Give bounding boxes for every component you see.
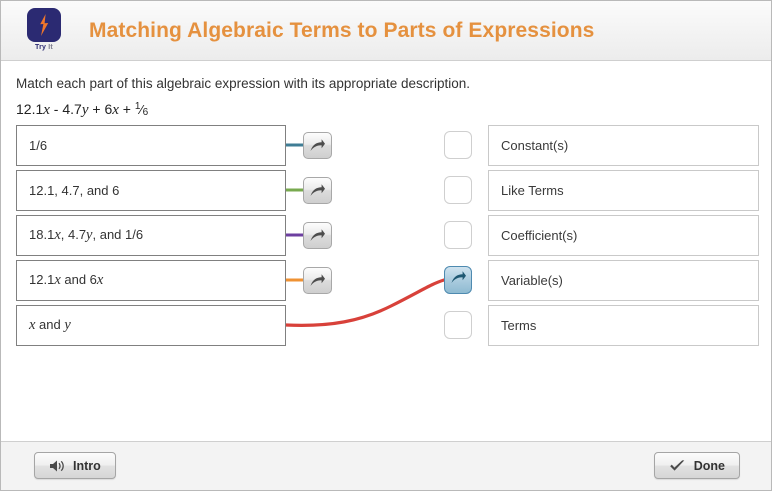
intro-button[interactable]: Intro xyxy=(34,452,116,479)
expr-var-y: y xyxy=(82,102,89,118)
done-button[interactable]: Done xyxy=(654,452,740,479)
right-item-1[interactable]: Constant(s) xyxy=(488,125,759,166)
lightning-bolt-icon xyxy=(37,14,51,36)
matching-area: 1/6 12.1, 4.7, and 6 18.1x, 4.7y, and 1/… xyxy=(1,121,772,421)
done-button-label: Done xyxy=(694,459,725,473)
speaker-icon xyxy=(49,459,65,473)
curved-arrow-icon xyxy=(309,183,326,198)
expr-var-x1: x xyxy=(43,102,50,118)
right-target-button-2[interactable] xyxy=(444,176,472,204)
fraction-numerator: 1 xyxy=(135,101,141,112)
left-item-1[interactable]: 1/6 xyxy=(16,125,286,166)
right-item-4-label: Variable(s) xyxy=(501,273,563,288)
left-item-3[interactable]: 18.1x, 4.7y, and 1/6 xyxy=(16,215,286,256)
left-connector-button-2[interactable] xyxy=(303,177,332,204)
expr-fraction: 1⁄6 xyxy=(135,101,148,118)
left-connector-button-4[interactable] xyxy=(303,267,332,294)
right-target-button-1[interactable] xyxy=(444,131,472,159)
left-item-4-label: 12.1x and 6x xyxy=(29,272,103,289)
logo: Try It xyxy=(21,8,67,54)
activity-window: Try It Matching Algebraic Terms to Parts… xyxy=(0,0,772,491)
expr-part-4: + xyxy=(119,101,135,117)
fraction-denominator: 6 xyxy=(143,107,149,118)
left-connector-button-3[interactable] xyxy=(303,222,332,249)
page-title: Matching Algebraic Terms to Parts of Exp… xyxy=(89,19,594,43)
logo-tile xyxy=(27,8,61,42)
instruction-text: Match each part of this algebraic expres… xyxy=(16,76,470,91)
right-item-5-label: Terms xyxy=(501,318,536,333)
right-item-5[interactable]: Terms xyxy=(488,305,759,346)
activity-content: Match each part of this algebraic expres… xyxy=(1,61,771,440)
right-target-button-4[interactable] xyxy=(444,266,472,294)
logo-caption: Try It xyxy=(35,44,53,51)
right-target-button-5[interactable] xyxy=(444,311,472,339)
right-item-2-label: Like Terms xyxy=(501,183,564,198)
curved-arrow-icon xyxy=(450,270,467,290)
right-item-2[interactable]: Like Terms xyxy=(488,170,759,211)
left-item-4[interactable]: 12.1x and 6x xyxy=(16,260,286,301)
left-item-5[interactable]: x and y xyxy=(16,305,286,346)
footer-bar: Intro Done xyxy=(1,441,771,490)
left-item-2[interactable]: 12.1, 4.7, and 6 xyxy=(16,170,286,211)
right-item-3-label: Coefficient(s) xyxy=(501,228,577,243)
left-item-5-label: x and y xyxy=(29,317,71,334)
right-item-4[interactable]: Variable(s) xyxy=(488,260,759,301)
intro-button-label: Intro xyxy=(73,459,101,473)
logo-caption-it: It xyxy=(48,44,53,51)
expr-var-x2: x xyxy=(112,102,119,118)
left-item-1-label: 1/6 xyxy=(29,138,47,153)
expr-part-3: + 6 xyxy=(89,101,113,117)
logo-caption-try: Try xyxy=(35,44,46,51)
expr-part-1: 12.1 xyxy=(16,101,43,117)
curved-arrow-icon xyxy=(309,228,326,243)
expr-part-2: - 4.7 xyxy=(50,101,82,117)
checkmark-icon xyxy=(669,459,686,473)
right-item-1-label: Constant(s) xyxy=(501,138,568,153)
header-bar: Try It Matching Algebraic Terms to Parts… xyxy=(1,1,771,61)
left-connector-button-1[interactable] xyxy=(303,132,332,159)
algebraic-expression: 12.1x - 4.7y + 6x + 1⁄6 xyxy=(16,101,148,119)
left-item-3-label: 18.1x, 4.7y, and 1/6 xyxy=(29,227,143,244)
right-target-button-3[interactable] xyxy=(444,221,472,249)
curved-arrow-icon xyxy=(309,138,326,153)
right-item-3[interactable]: Coefficient(s) xyxy=(488,215,759,256)
left-item-2-label: 12.1, 4.7, and 6 xyxy=(29,183,119,198)
curved-arrow-icon xyxy=(309,273,326,288)
